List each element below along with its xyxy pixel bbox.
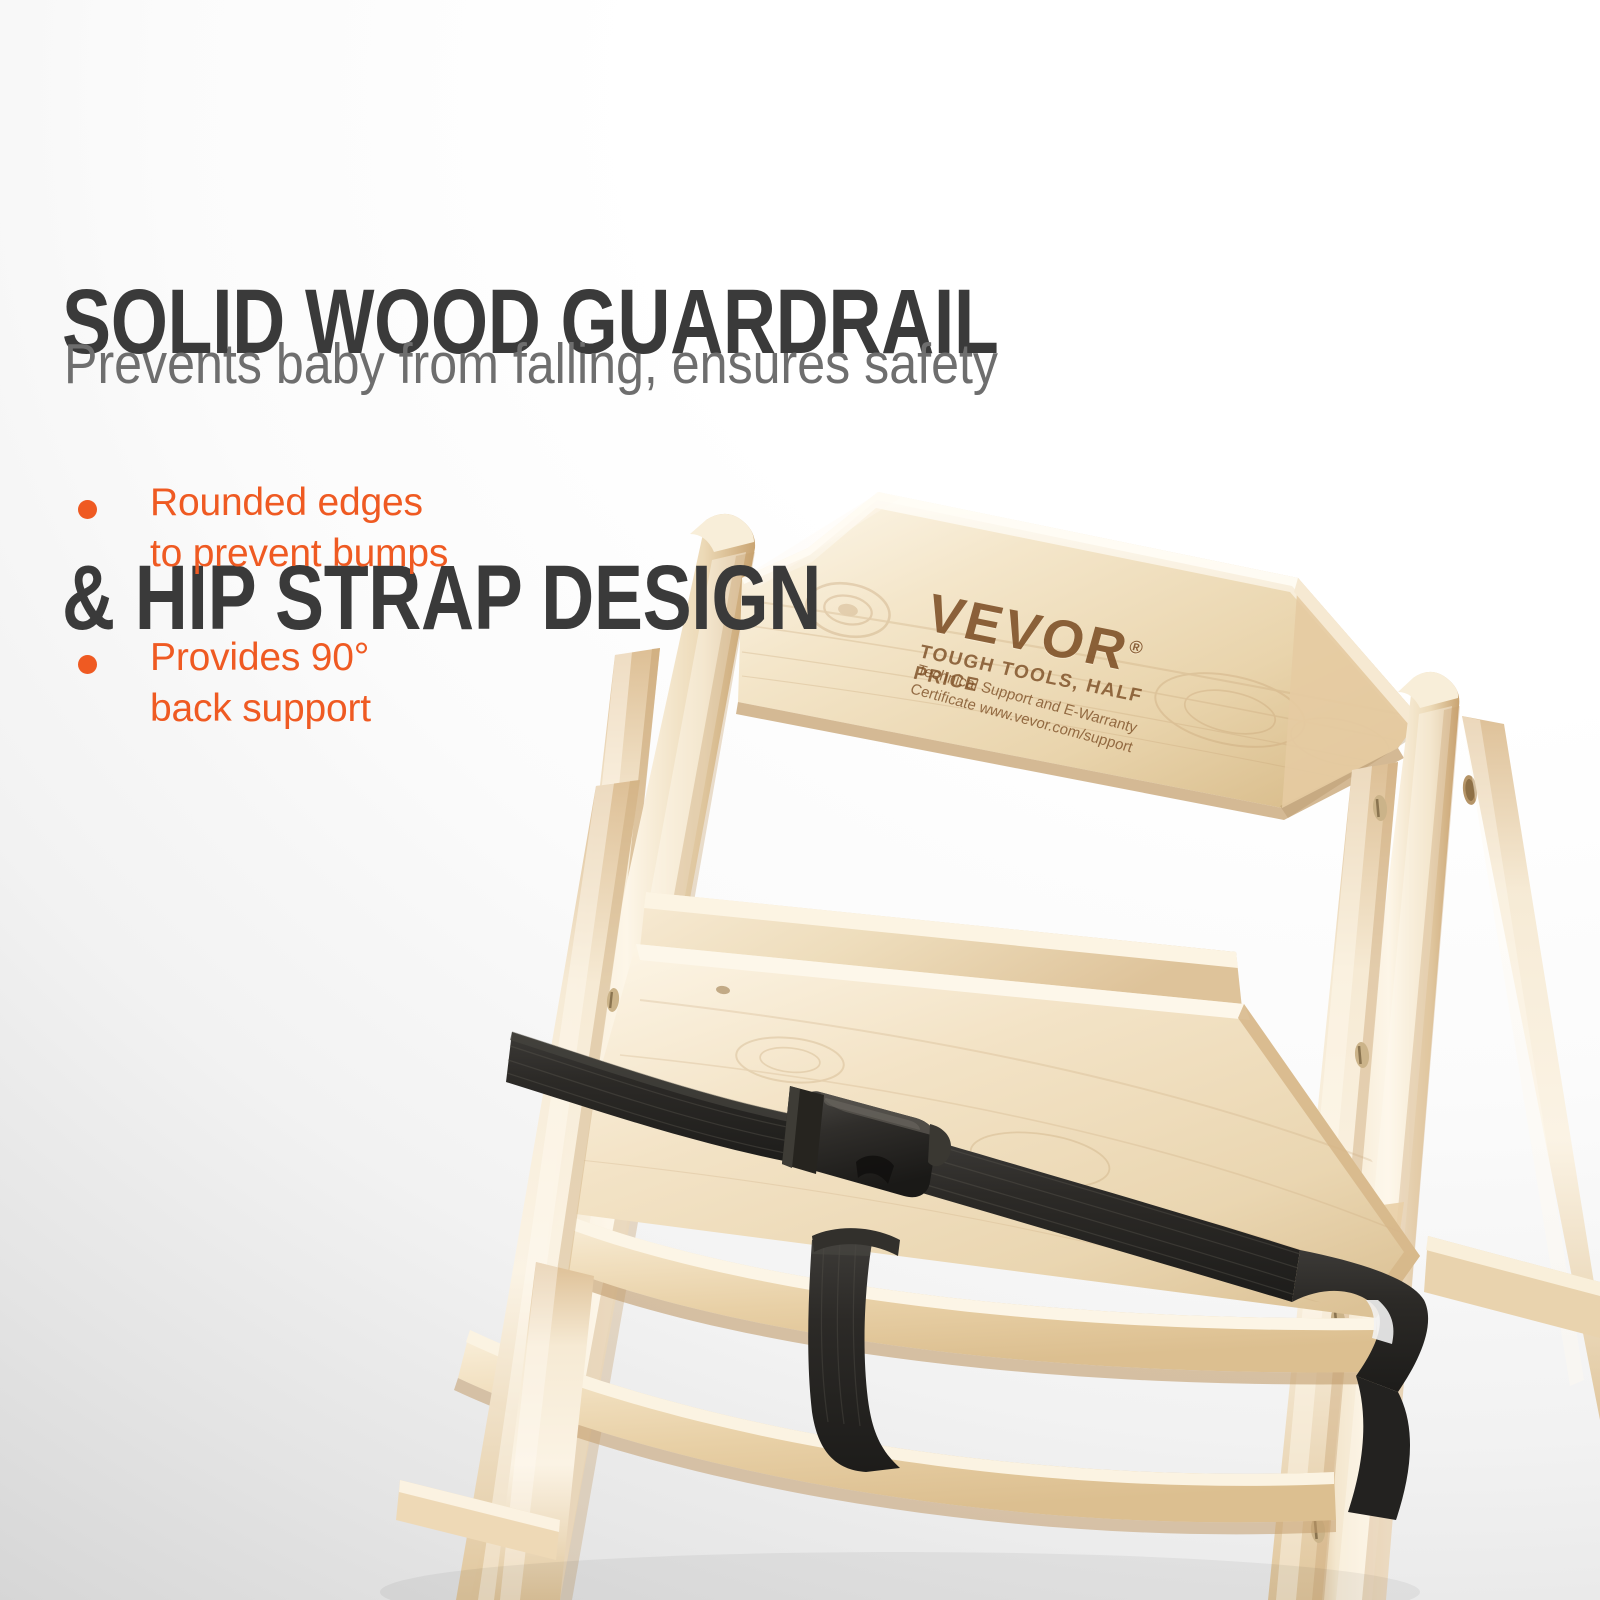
bullet-dot-icon: [78, 500, 97, 519]
bullet-text: Rounded edges to prevent bumps: [150, 478, 582, 579]
list-item: Rounded edges to prevent bumps: [62, 478, 582, 579]
subtitle: Prevents baby from falling, ensures safe…: [64, 333, 998, 396]
bullet-dot-icon: [78, 655, 97, 674]
list-item: Provides 90° back support: [62, 633, 582, 734]
product-feature-banner: VEVOR® TOUGH TOOLS, HALF PRICE Technical…: [0, 0, 1600, 1600]
feature-bullet-list: Rounded edges to prevent bumps Provides …: [62, 478, 582, 789]
bullet-text: Provides 90° back support: [150, 633, 582, 734]
